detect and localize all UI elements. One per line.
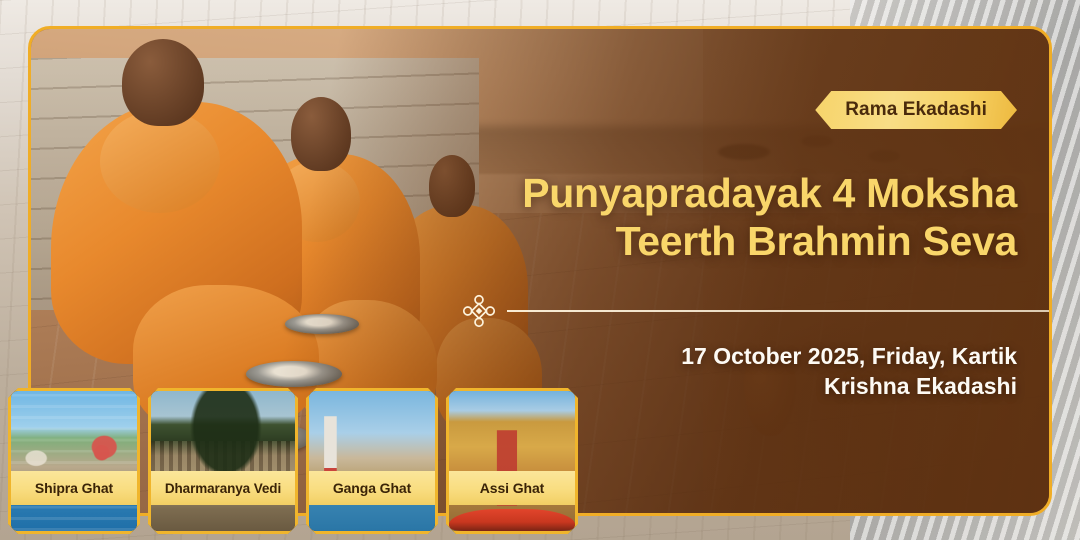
date-line-1: 17 October 2025, Friday, Kartik bbox=[437, 341, 1017, 371]
thumbnail-card-shipra-ghat[interactable]: Shipra Ghat bbox=[8, 388, 140, 534]
thumbnail-caption: Dharmaranya Vedi bbox=[151, 471, 295, 505]
thumbnail-image-ganga-ghat bbox=[309, 391, 435, 531]
headline-line-2: Teerth Brahmin Seva bbox=[417, 217, 1017, 265]
thumbnail-card-ganga-ghat[interactable]: Ganga Ghat bbox=[306, 388, 438, 534]
thumbnail-image-shipra-ghat bbox=[11, 391, 137, 531]
headline-line-1: Punyapradayak 4 Moksha bbox=[417, 169, 1017, 217]
thumbnail-caption: Assi Ghat bbox=[449, 471, 575, 505]
thumbnail-caption: Shipra Ghat bbox=[11, 471, 137, 505]
four-lobed-knot-icon bbox=[461, 293, 497, 329]
banner-headline: Punyapradayak 4 Moksha Teerth Brahmin Se… bbox=[417, 169, 1017, 266]
banner-stage: Rama Ekadashi Punyapradayak 4 Moksha Tee… bbox=[0, 0, 1080, 540]
thumbnail-card-dharmaranya-vedi[interactable]: Dharmaranya Vedi bbox=[148, 388, 298, 534]
thumbnail-card-assi-ghat[interactable]: Assi Ghat bbox=[446, 388, 578, 534]
festival-badge[interactable]: Rama Ekadashi bbox=[815, 91, 1017, 129]
ghat-thumbnail-strip: Shipra Ghat Dharmaranya Vedi Ganga Ghat … bbox=[8, 388, 578, 534]
thumbnail-caption: Ganga Ghat bbox=[309, 471, 435, 505]
divider-rule bbox=[507, 310, 1049, 312]
divider-row bbox=[429, 293, 1049, 329]
thumbnail-boat bbox=[449, 509, 575, 531]
thumbnail-image-dharmaranya-vedi bbox=[151, 391, 295, 531]
